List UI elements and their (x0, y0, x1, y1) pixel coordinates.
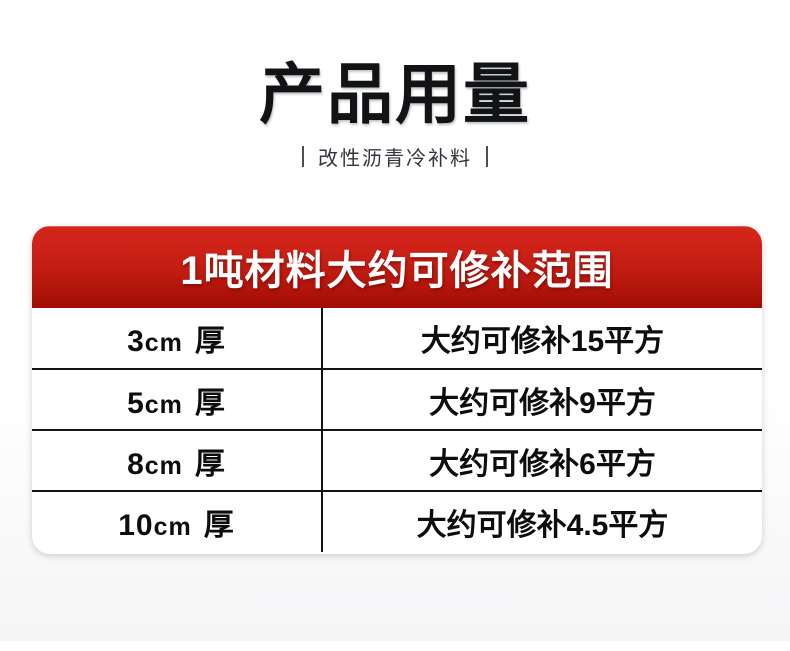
subtitle-left-divider-icon (302, 146, 304, 167)
subtitle-text: 改性沥青冷补料 (318, 142, 472, 171)
thickness-label: 厚 (195, 325, 226, 358)
cell-thickness: 5cm厚 (32, 369, 322, 430)
usage-table-banner-title: 1吨材料大约可修补范围 (180, 238, 613, 296)
table-row: 8cm厚 大约可修补6平方 (32, 430, 762, 491)
subtitle-right-divider-icon (486, 146, 488, 167)
thickness-unit: cm (145, 329, 183, 357)
table-row: 10cm厚 大约可修补4.5平方 (32, 491, 762, 552)
cell-coverage: 大约可修补9平方 (322, 369, 762, 430)
product-usage-infographic: 产品用量 改性沥青冷补料 1吨材料大约可修补范围 3cm厚 大约可修补15平方 … (0, 0, 790, 651)
cell-coverage: 大约可修补15平方 (322, 308, 762, 369)
cell-thickness: 8cm厚 (32, 430, 322, 491)
cell-coverage: 大约可修补4.5平方 (322, 491, 762, 552)
cell-thickness: 10cm厚 (32, 491, 322, 552)
table-row: 3cm厚 大约可修补15平方 (32, 308, 762, 369)
cell-coverage: 大约可修补6平方 (322, 430, 762, 491)
table-row: 5cm厚 大约可修补9平方 (32, 369, 762, 430)
thickness-unit: cm (154, 513, 192, 541)
cell-thickness: 3cm厚 (32, 308, 322, 369)
usage-table: 3cm厚 大约可修补15平方 5cm厚 大约可修补9平方 8cm厚 大约可修补6… (32, 308, 762, 552)
header-block: 产品用量 改性沥青冷补料 (0, 60, 790, 171)
thickness-value: 5 (127, 387, 145, 420)
thickness-label: 厚 (195, 387, 226, 420)
thickness-value: 10 (118, 509, 153, 542)
thickness-value: 8 (127, 448, 145, 481)
usage-table-banner: 1吨材料大约可修补范围 (32, 226, 762, 308)
thickness-label: 厚 (204, 509, 235, 542)
subtitle-row: 改性沥青冷补料 (0, 142, 790, 171)
thickness-label: 厚 (195, 448, 226, 481)
thickness-unit: cm (145, 452, 183, 480)
usage-table-card: 1吨材料大约可修补范围 3cm厚 大约可修补15平方 5cm厚 大约可修补9平方… (32, 226, 762, 554)
thickness-unit: cm (145, 391, 183, 419)
thickness-value: 3 (127, 325, 145, 358)
page-title: 产品用量 (0, 60, 790, 130)
